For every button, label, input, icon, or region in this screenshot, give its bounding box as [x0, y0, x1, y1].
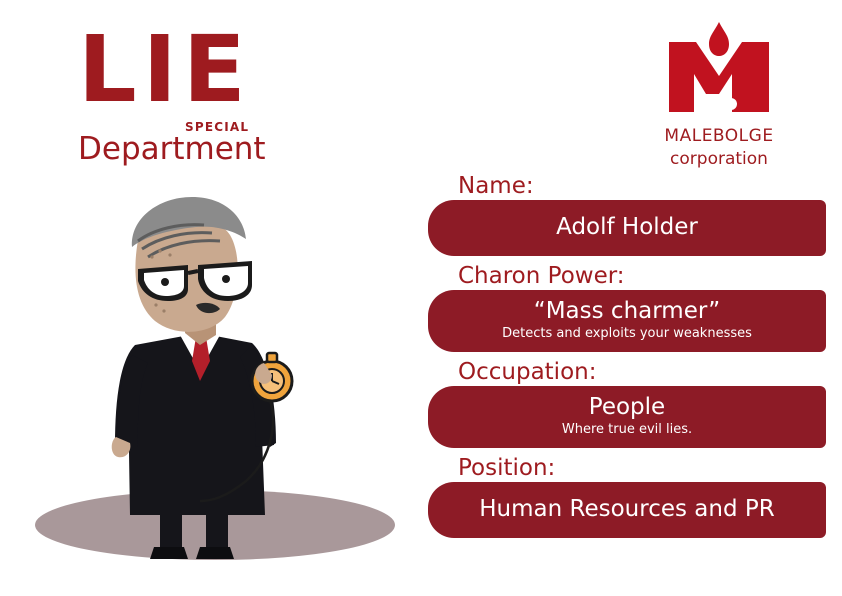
field-value-name: Adolf Holder — [556, 214, 698, 241]
brand-subtitle-department: Department — [78, 132, 266, 166]
field-position: Position: Human Resources and PR — [428, 454, 826, 538]
field-bar-position: Human Resources and PR — [428, 482, 826, 538]
corporate-subtitle: corporation — [624, 149, 814, 169]
field-value-position: Human Resources and PR — [479, 496, 774, 523]
field-bar-charon-power: “Mass charmer” Detects and exploits your… — [428, 290, 826, 352]
corporate-name: MALEBOLGE — [624, 126, 814, 146]
field-label-position: Position: — [428, 454, 826, 482]
field-bar-occupation: People Where true evil lies. — [428, 386, 826, 448]
brand-title-lie: LIE — [78, 24, 252, 116]
field-charon-power: Charon Power: “Mass charmer” Detects and… — [428, 262, 826, 352]
field-sub-occupation: Where true evil lies. — [562, 422, 692, 438]
character-profile-card: LIE SPECIAL Department MALEBOLGE corpora… — [0, 0, 842, 596]
field-occupation: Occupation: People Where true evil lies. — [428, 358, 826, 448]
field-label-occupation: Occupation: — [428, 358, 826, 386]
corporate-logo-block: MALEBOLGE corporation — [624, 20, 814, 169]
man-in-suit-with-pocket-watch-illustration — [20, 185, 420, 575]
field-sub-charon-power: Detects and exploits your weaknesses — [502, 326, 752, 342]
info-panel: Name: Adolf Holder Charon Power: “Mass c… — [428, 172, 826, 544]
field-value-charon-power: “Mass charmer” — [534, 298, 720, 325]
field-name: Name: Adolf Holder — [428, 172, 826, 256]
field-label-name: Name: — [428, 172, 826, 200]
flame-m-logo-icon — [654, 20, 784, 120]
field-label-charon-power: Charon Power: — [428, 262, 826, 290]
field-value-occupation: People — [589, 394, 665, 421]
field-bar-name: Adolf Holder — [428, 200, 826, 256]
brand-header: LIE SPECIAL Department — [78, 24, 378, 164]
